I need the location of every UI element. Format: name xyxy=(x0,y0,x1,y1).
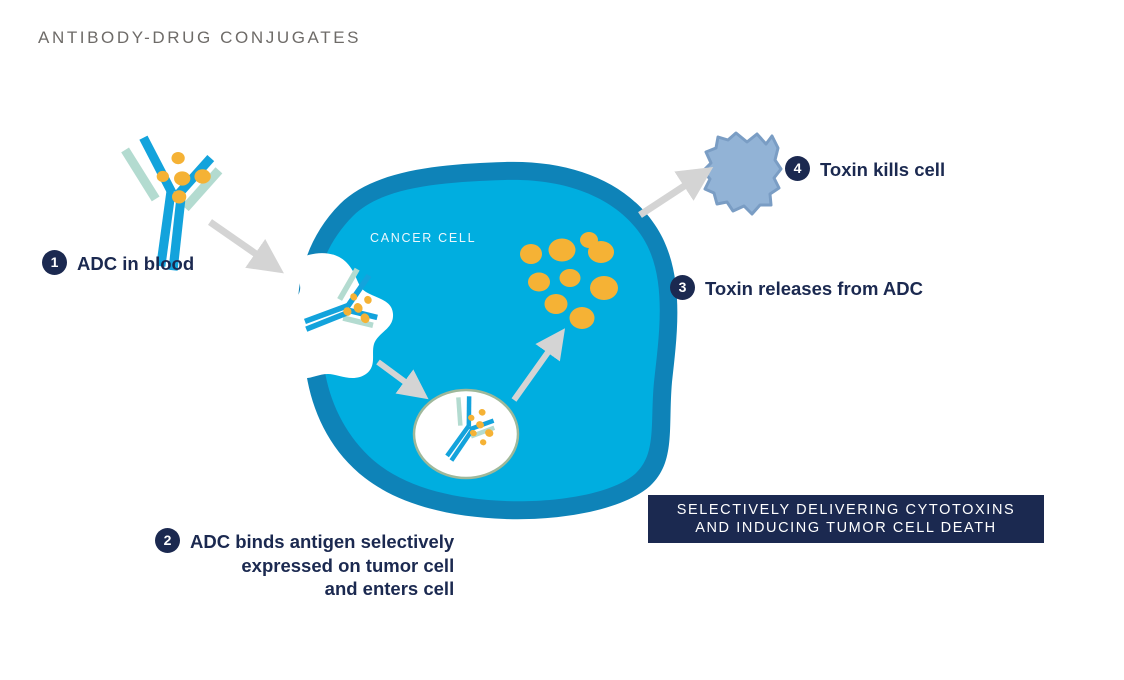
endosome-vesicle xyxy=(414,390,518,478)
step-badge-1: 1 xyxy=(42,250,67,275)
dead-cell xyxy=(703,133,781,214)
step-badge-3: 3 xyxy=(670,275,695,300)
step-label-2: 2 ADC binds antigen selectively expresse… xyxy=(155,528,454,601)
diagram-canvas: ANTIBODY-DRUG CONJUGATES xyxy=(0,0,1124,680)
step-badge-2: 2 xyxy=(155,528,180,553)
step-text-1: ADC in blood xyxy=(77,250,194,276)
step-label-1: 1 ADC in blood xyxy=(42,250,194,276)
step-label-3: 3 Toxin releases from ADC xyxy=(670,275,923,301)
step-badge-4: 4 xyxy=(785,156,810,181)
step-text-4: Toxin kills cell xyxy=(820,156,945,182)
step-label-4: 4 Toxin kills cell xyxy=(785,156,945,182)
arrow-cell-to-dead-cell xyxy=(640,177,698,215)
tagline-box: SELECTIVELY DELIVERING CYTOTOXINS AND IN… xyxy=(648,495,1044,543)
tagline-text: SELECTIVELY DELIVERING CYTOTOXINS AND IN… xyxy=(677,501,1016,537)
arrow-adc-to-cell xyxy=(210,222,269,263)
cancer-cell-caption: CANCER CELL xyxy=(370,231,476,245)
step-text-3: Toxin releases from ADC xyxy=(705,275,923,301)
step-text-2: ADC binds antigen selectively expressed … xyxy=(190,528,454,601)
